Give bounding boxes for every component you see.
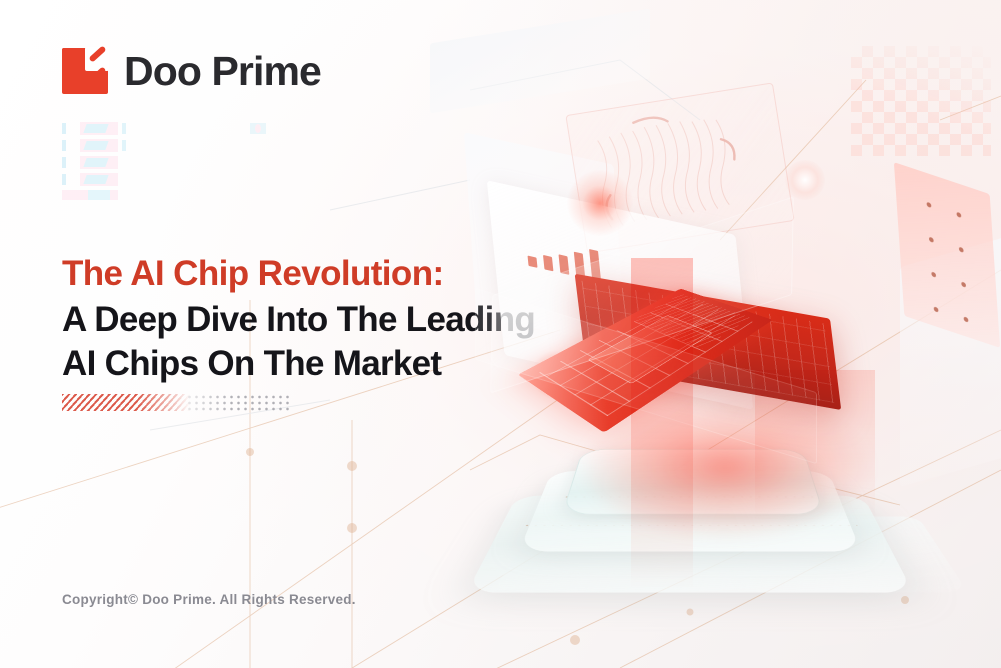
dot-grid-icon — [186, 394, 290, 411]
brand-logo[interactable]: Doo Prime — [62, 48, 321, 94]
data-row-footer — [62, 190, 272, 203]
glow-spark-icon — [785, 160, 825, 200]
data-row — [62, 156, 272, 169]
perforated-panel-icon — [894, 162, 1000, 348]
red-accent-band-2 — [755, 370, 875, 520]
checker-diamond-icon — [851, 46, 991, 156]
data-row — [62, 173, 272, 186]
stripe-dot-ornament — [62, 393, 294, 411]
data-row — [62, 139, 272, 152]
data-row — [62, 122, 272, 135]
copyright-text: Copyright© Doo Prime. All Rights Reserve… — [62, 592, 356, 607]
diagonal-stripe-bar-icon — [62, 394, 190, 411]
hero-artwork — [455, 40, 1001, 668]
doo-prime-logo-icon — [62, 48, 108, 94]
brand-name: Doo Prime — [124, 51, 321, 92]
data-rows-icon — [62, 122, 272, 204]
poster-canvas: Doo Prime The AI Chip Revolution: A Deep… — [0, 0, 1001, 668]
red-accent-band — [631, 258, 693, 588]
